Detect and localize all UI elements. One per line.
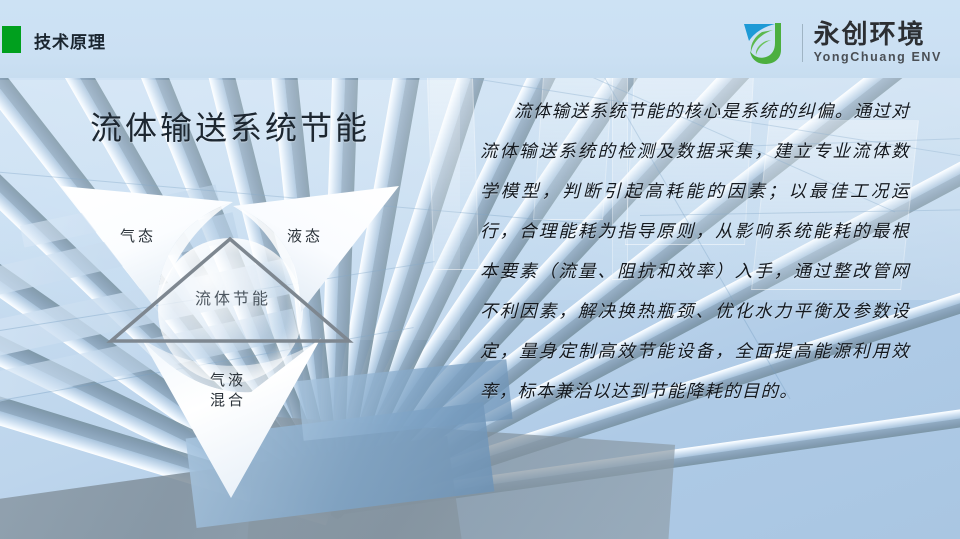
diagram-label-core: 流体节能 — [158, 285, 308, 309]
slide-canvas: 技术原理 永创环境 YongChuang ENV 流体输送系统节能 — [0, 0, 960, 539]
page-title: 技术原理 — [34, 28, 106, 53]
diagram-node-mixed[interactable] — [135, 330, 330, 505]
logo-text-group: 永创环境 YongChuang ENV — [814, 22, 942, 64]
logo-divider — [802, 24, 803, 62]
logo-name-en: YongChuang ENV — [814, 50, 942, 64]
body-paragraph: 流体输送系统节能的核心是系统的纠偏。通过对流体输送系统的检测及数据采集，建立专业… — [480, 92, 910, 412]
diagram-label-mixed: 气液 混合 — [173, 370, 283, 411]
leaf-swoosh-icon — [741, 20, 793, 66]
header-accent-square — [2, 26, 21, 53]
diagram-label-gas: 气态 — [93, 226, 183, 246]
slide-heading: 流体输送系统节能 — [90, 103, 370, 149]
diagram-label-liquid: 液态 — [260, 226, 350, 246]
logo-name-cn: 永创环境 — [814, 22, 942, 49]
company-logo: 永创环境 YongChuang ENV — [741, 18, 942, 68]
fluid-energy-triangle-diagram: 气态 液态 气液 混合 流体节能 — [55, 180, 400, 500]
